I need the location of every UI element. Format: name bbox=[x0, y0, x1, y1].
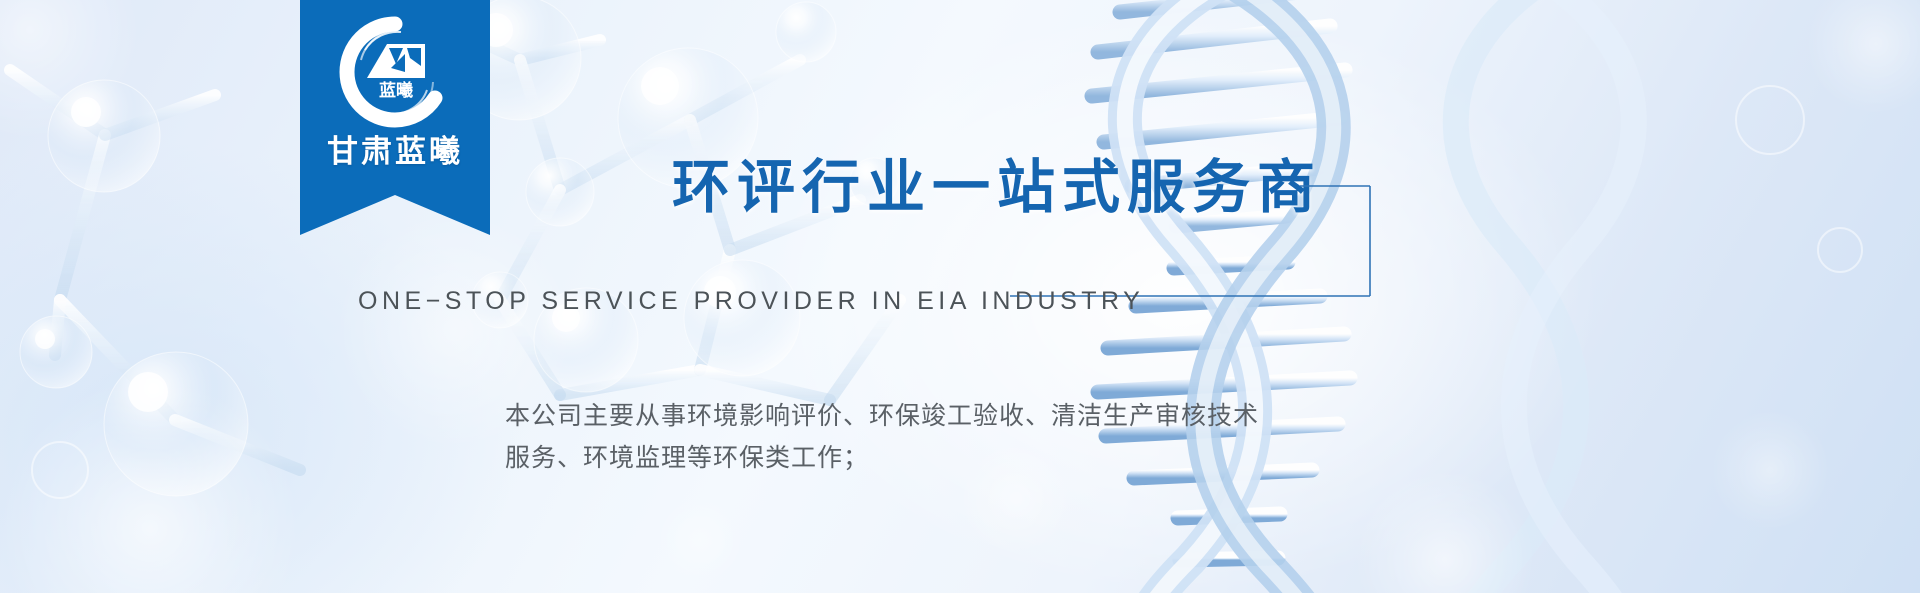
hero-banner: 蓝曦 甘肃蓝曦 环评行业一站式服务商 ONE−STOP SERVICE PROV… bbox=[0, 0, 1920, 593]
description-block: 本公司主要从事环境影响评价、环保竣工验收、清洁生产审核技术 服务、环境监理等环保… bbox=[505, 395, 1285, 479]
connector-line bbox=[1010, 168, 1450, 303]
description-line-2: 服务、环境监理等环保类工作； bbox=[505, 437, 1285, 479]
description-line-1: 本公司主要从事环境影响评价、环保竣工验收、清洁生产审核技术 bbox=[505, 395, 1285, 437]
page-subtitle: ONE−STOP SERVICE PROVIDER IN EIA INDUSTR… bbox=[358, 287, 1144, 316]
logo-mark-label: 蓝曦 bbox=[379, 80, 413, 101]
lanxi-circular-logo-icon: 蓝曦 bbox=[339, 16, 451, 128]
company-name: 甘肃蓝曦 bbox=[300, 126, 490, 171]
company-badge: 蓝曦 甘肃蓝曦 bbox=[300, 0, 490, 235]
